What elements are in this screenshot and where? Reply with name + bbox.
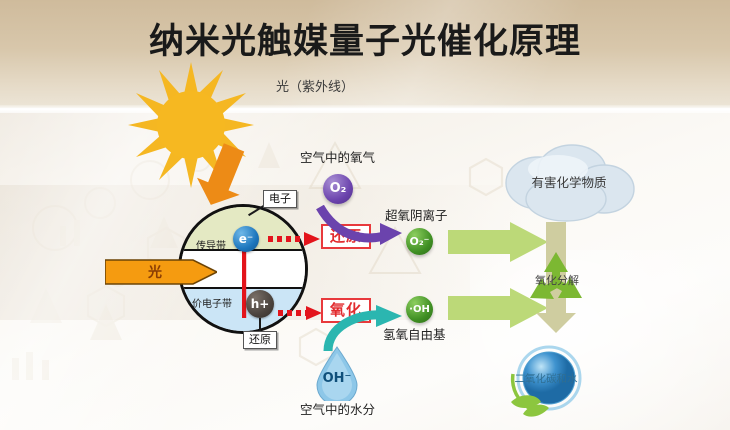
superoxide-label: 超氧阴离子 [385, 205, 448, 224]
slide-canvas: 纳米光触媒量子光催化原理 光（紫外线） 传导带 价电子带 [0, 0, 730, 430]
conduction-band-label: 传导带 [196, 237, 226, 252]
decomposition-label: 氧化分解 [518, 272, 596, 288]
sun-to-particle-arrow [196, 140, 266, 212]
page-title: 纳米光触媒量子光催化原理 [0, 13, 730, 64]
hole-callout: 还原 [243, 331, 277, 349]
hydroxyl-label: 氢氧自由基 [383, 324, 446, 343]
light-caption: 光（紫外线） [240, 76, 390, 95]
pollutant-label: 有害化学物质 [496, 172, 642, 191]
hole-bubble: h+ [246, 290, 274, 318]
header-divider [0, 105, 730, 113]
result-label: 二氧化碳和水 [503, 371, 589, 386]
reduction-dashed-arrow [266, 231, 320, 247]
hydroxyl-molecule: ·OH [406, 296, 433, 323]
oxygen-molecule: O₂ [323, 174, 353, 204]
hydroxide-symbol: OH⁻ [313, 371, 361, 386]
superoxide-molecule: O₂⁻ [406, 228, 433, 255]
decomposition-stem-tip [536, 313, 576, 333]
electron-callout: 电子 [263, 190, 297, 208]
electron-bubble: e⁻ [233, 226, 259, 252]
light-arrow-label: 光 [130, 262, 180, 282]
air-moisture-label: 空气中的水分 [300, 399, 375, 418]
valence-band-label: 价电子带 [192, 295, 232, 310]
air-oxygen-label: 空气中的氧气 [300, 147, 375, 166]
